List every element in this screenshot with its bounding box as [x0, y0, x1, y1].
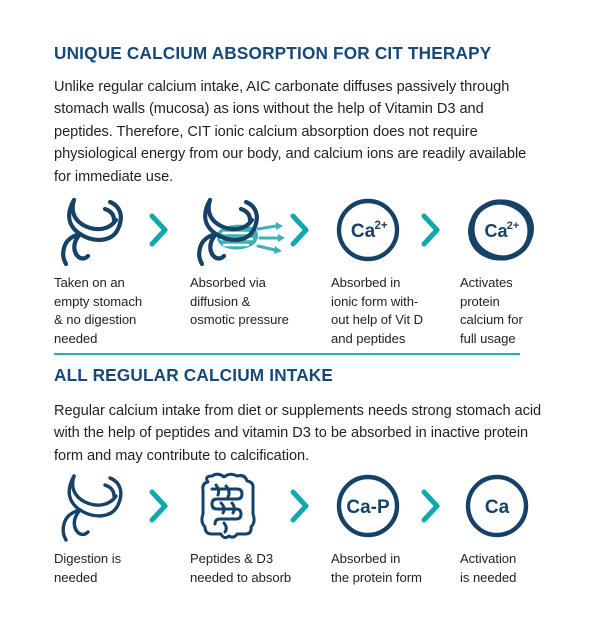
calcium-ion-rings-icon: Ca 2+ [460, 196, 560, 266]
section-1-body-wrap: Unlike regular calcium intake, AIC carbo… [54, 76, 546, 188]
ca-p-label: Ca-P [346, 497, 390, 518]
chevron-right-icon [418, 196, 444, 266]
chevron-right-icon [146, 196, 172, 266]
step-2-caption: Absorbed via diffusion & osmotic pressur… [190, 274, 310, 330]
infographic-page: UNIQUE CALCIUM ABSORPTION FOR CIT THERAP… [0, 0, 600, 635]
ca-label: Ca [351, 221, 376, 242]
section-1-body: Unlike regular calcium intake, AIC carbo… [54, 76, 546, 188]
section-2-body-wrap: Regular calcium intake from diet or supp… [54, 400, 546, 467]
step-6-caption: Peptides & D3 needed to absorb [190, 550, 320, 587]
step-8-column: Ca Activation is needed [460, 472, 560, 587]
chevron-right-icon [287, 196, 313, 266]
calcium-circle-icon: Ca [460, 472, 560, 542]
step-5-caption: Digestion is needed [54, 550, 164, 587]
step-7-caption: Absorbed in the protein form [331, 550, 451, 587]
section-regular-calcium: ALL REGULAR CALCIUM INTAKE [54, 366, 546, 385]
section-1-heading: UNIQUE CALCIUM ABSORPTION FOR CIT THERAP… [54, 44, 546, 63]
section-unique-calcium: UNIQUE CALCIUM ABSORPTION FOR CIT THERAP… [54, 44, 546, 63]
charge-label: 2+ [507, 220, 520, 232]
ca-label: Ca [484, 221, 508, 241]
chevron-right-icon [287, 472, 313, 542]
step-1-caption: Taken on an empty stomach & no digestion… [54, 274, 164, 348]
section-divider [54, 353, 520, 355]
step-4-caption: Activates protein calcium for full usage [460, 274, 560, 348]
section-2-body: Regular calcium intake from diet or supp… [54, 400, 546, 467]
section-2-heading: ALL REGULAR CALCIUM INTAKE [54, 366, 546, 385]
ca-label: Ca [485, 497, 510, 518]
chevron-right-icon [146, 472, 172, 542]
chevron-right-icon [418, 472, 444, 542]
step-4-column: Ca 2+ Activates protein calcium for full… [460, 196, 560, 348]
step-8-caption: Activation is needed [460, 550, 560, 587]
step-3-caption: Absorbed in ionic form with- out help of… [331, 274, 449, 348]
charge-label: 2+ [374, 220, 387, 232]
